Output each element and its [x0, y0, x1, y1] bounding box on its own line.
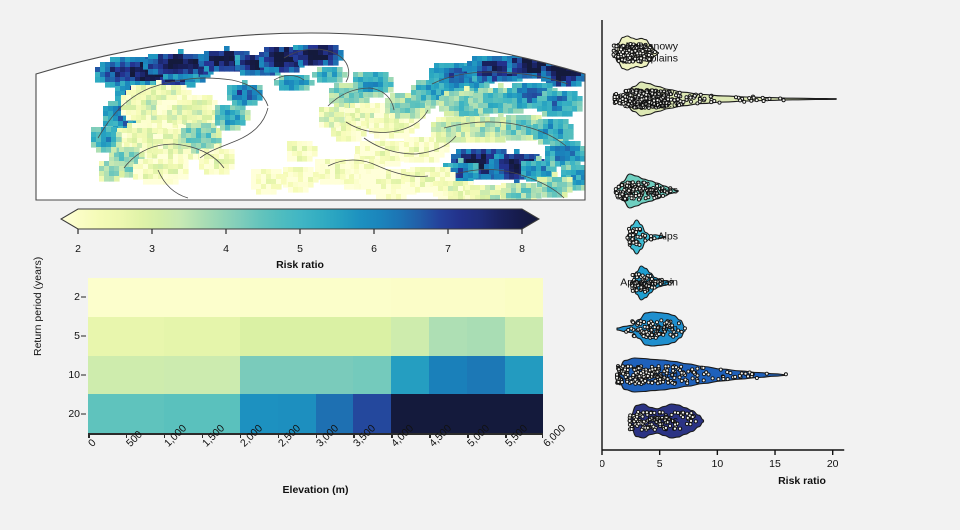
map-grid-cell	[410, 167, 416, 173]
map-grid-cell	[400, 108, 406, 114]
map-grid-cell	[162, 110, 168, 116]
map-grid-cell	[334, 93, 340, 99]
violin-x-tick-label: 5	[657, 458, 663, 470]
map-grid-cell	[410, 187, 416, 193]
map-grid-cell	[261, 169, 267, 175]
violin-point	[744, 372, 747, 375]
map-grid-cell	[353, 82, 359, 88]
map-grid-cell	[341, 131, 347, 137]
map-grid-cell	[148, 59, 154, 65]
map-grid-cell	[247, 95, 253, 101]
map-grid-cell	[381, 179, 387, 185]
map-grid-cell	[209, 56, 215, 62]
map-grid-cell	[419, 142, 425, 148]
map-grid-cell	[536, 166, 542, 172]
map-grid-cell	[476, 154, 482, 160]
violin-point	[703, 97, 706, 100]
map-grid-cell	[173, 174, 179, 180]
map-grid-cell	[320, 164, 326, 170]
heatmap-cell	[505, 317, 543, 356]
map-grid-cell	[511, 120, 517, 126]
map-grid-cell	[299, 80, 305, 86]
map-grid-cell	[127, 133, 133, 139]
map-grid-cell	[577, 106, 583, 112]
heatmap-x-tick-label: 0	[86, 437, 99, 450]
violin-point	[734, 375, 737, 378]
map-grid-cell	[542, 187, 548, 193]
map-grid-cell	[143, 59, 149, 65]
map-grid-cell	[303, 182, 309, 188]
map-grid-cell	[110, 67, 116, 73]
map-grid-cell	[459, 78, 465, 84]
heatmap-cell	[316, 317, 354, 356]
map-grid-cell	[131, 85, 137, 91]
map-grid-cell	[328, 60, 334, 66]
map-grid-cell	[419, 147, 425, 153]
map-grid-cell	[126, 110, 132, 116]
violin-point	[683, 327, 686, 330]
map-grid-cell	[173, 179, 179, 185]
map-grid-cell	[374, 133, 380, 139]
map-grid-cell	[568, 129, 574, 135]
map-grid-cell	[378, 87, 384, 93]
map-grid-cell	[307, 151, 313, 157]
map-grid-cell	[502, 66, 508, 72]
map-grid-cell	[329, 88, 335, 94]
map-grid-cell	[405, 98, 411, 104]
map-grid-cell	[572, 91, 578, 97]
map-grid-cell	[526, 188, 532, 194]
violin-point	[707, 373, 710, 376]
map-grid-cell	[438, 186, 444, 192]
map-grid-cell	[173, 69, 179, 75]
map-grid-cell	[567, 187, 573, 193]
map-grid-cell	[370, 151, 376, 157]
map-grid-cell	[157, 115, 163, 121]
map-grid-cell	[313, 172, 319, 178]
map-grid-cell	[478, 103, 484, 109]
map-grid-cell	[242, 90, 248, 96]
map-grid-cell	[199, 56, 205, 62]
map-grid-cell	[434, 83, 440, 89]
map-grid-cell	[379, 123, 385, 129]
map-grid-cell	[344, 98, 350, 104]
violin-point	[685, 96, 688, 99]
map-grid-cell	[354, 93, 360, 99]
map-grid-cell	[197, 95, 203, 101]
map-grid-cell	[148, 159, 154, 165]
map-grid-cell	[235, 110, 241, 116]
map-grid-cell	[168, 174, 174, 180]
map-grid-cell	[425, 182, 431, 188]
violin-panel: Non-snowy plainsSnow- dominatedRockiesAl…	[600, 20, 950, 510]
map-grid-cell	[250, 55, 256, 61]
map-grid-cell	[147, 153, 153, 159]
map-grid-cell	[182, 100, 188, 106]
map-grid-cell	[512, 76, 518, 82]
map-grid-cell	[565, 151, 571, 157]
map-grid-cell	[209, 164, 215, 170]
violin-point	[696, 367, 699, 370]
map-grid-cell	[529, 154, 535, 160]
map-grid-cell	[473, 168, 479, 174]
map-grid-cell	[120, 86, 126, 92]
map-grid-cell	[536, 161, 542, 167]
map-grid-cell	[547, 106, 553, 112]
map-grid-cell	[230, 125, 236, 131]
map-grid-cell	[167, 95, 173, 101]
map-grid-cell	[172, 120, 178, 126]
map-grid-cell	[158, 59, 164, 65]
map-grid-cell	[229, 66, 235, 72]
map-grid-cell	[141, 115, 147, 121]
map-grid-cell	[561, 71, 567, 77]
map-grid-cell	[235, 105, 241, 111]
map-grid-cell	[247, 100, 253, 106]
map-grid-cell	[197, 100, 203, 106]
map-grid-cell	[337, 72, 343, 78]
map-grid-cell	[173, 74, 179, 80]
map-grid-cell	[204, 66, 210, 72]
map-grid-cell	[552, 53, 558, 59]
map-grid-cell	[433, 191, 439, 197]
map-grid-cell	[162, 123, 168, 129]
map-grid-cell	[507, 63, 513, 69]
map-grid-cell	[550, 141, 556, 147]
map-grid-cell	[410, 108, 416, 114]
heatmap-cell	[164, 317, 202, 356]
map-grid-cell	[560, 146, 566, 152]
map-grid-cell	[166, 90, 172, 96]
map-grid-cell	[167, 110, 173, 116]
map-grid-cell	[353, 77, 359, 83]
map-grid-cell	[430, 167, 436, 173]
map-grid-cell	[113, 101, 119, 107]
map-grid-cell	[538, 124, 544, 130]
map-grid-cell	[168, 169, 174, 175]
violin-point	[717, 378, 720, 381]
map-grid-cell	[220, 105, 226, 111]
map-grid-cell	[424, 142, 430, 148]
map-grid-cell	[487, 56, 493, 62]
map-grid-cell	[563, 134, 569, 140]
map-grid-cell	[504, 174, 510, 180]
map-grid-cell	[469, 111, 475, 117]
map-grid-cell	[313, 55, 319, 61]
violin-point	[726, 371, 729, 374]
map-grid-cell	[115, 86, 121, 92]
map-grid-cell	[478, 88, 484, 94]
map-grid-cell	[287, 146, 293, 152]
map-grid-cell	[264, 47, 270, 53]
map-grid-cell	[482, 56, 488, 62]
map-grid-cell	[514, 149, 520, 155]
map-grid-cell	[475, 132, 481, 138]
map-grid-cell	[411, 85, 417, 91]
map-grid-cell	[229, 164, 235, 170]
map-grid-cell	[501, 193, 507, 199]
map-grid-cell	[411, 95, 417, 101]
map-grid-cell	[401, 194, 407, 200]
map-grid-cell	[281, 179, 287, 185]
map-grid-cell	[552, 96, 558, 102]
map-grid-cell	[483, 98, 489, 104]
map-grid-cell	[470, 132, 476, 138]
map-grid-cell	[245, 65, 251, 71]
map-grid-cell	[566, 61, 572, 67]
map-grid-cell	[178, 164, 184, 170]
map-grid-cell	[229, 51, 235, 57]
map-grid-cell	[374, 159, 380, 165]
map-grid-cell	[416, 85, 422, 91]
map-grid-cell	[339, 117, 345, 123]
map-grid-cell	[454, 78, 460, 84]
map-grid-cell	[519, 154, 525, 160]
map-grid-cell	[153, 149, 159, 155]
map-grid-cell	[440, 167, 446, 173]
map-grid-cell	[473, 173, 479, 179]
map-grid-cell	[464, 86, 470, 92]
map-grid-cell	[429, 137, 435, 143]
map-grid-cell	[207, 105, 213, 111]
map-grid-cell	[436, 127, 442, 133]
map-grid-cell	[537, 88, 543, 94]
map-grid-cell	[487, 76, 493, 82]
heatmap-cell	[316, 278, 354, 317]
map-grid-cell	[142, 128, 148, 134]
map-grid-cell	[511, 188, 517, 194]
map-grid-cell	[297, 141, 303, 147]
map-grid-cell	[219, 149, 225, 155]
map-grid-cell	[433, 186, 439, 192]
map-grid-cell	[516, 115, 522, 121]
map-grid-cell	[470, 127, 476, 133]
map-grid-cell	[414, 137, 420, 143]
map-grid-cell	[119, 147, 125, 153]
map-grid-cell	[385, 156, 391, 162]
map-grid-cell	[178, 49, 184, 55]
map-grid-cell	[250, 60, 256, 66]
map-grid-cell	[448, 191, 454, 197]
map-grid-cell	[207, 110, 213, 116]
map-grid-cell	[557, 182, 563, 188]
map-grid-cell	[313, 60, 319, 66]
map-grid-cell	[456, 117, 462, 123]
map-grid-cell	[113, 111, 119, 117]
map-grid-cell	[266, 184, 272, 190]
map-grid-cell	[183, 149, 189, 155]
map-grid-cell	[224, 51, 230, 57]
map-grid-cell	[371, 189, 377, 195]
map-grid-cell	[541, 66, 547, 72]
map-grid-cell	[365, 103, 371, 109]
map-grid-cell	[561, 61, 567, 67]
map-grid-cell	[537, 53, 543, 59]
map-grid-cell	[178, 64, 184, 70]
map-grid-cell	[449, 106, 455, 112]
map-grid-cell	[410, 113, 416, 119]
map-grid-cell	[331, 131, 337, 137]
map-grid-cell	[516, 188, 522, 194]
map-grid-cell	[433, 181, 439, 187]
map-grid-cell	[240, 105, 246, 111]
map-grid-cell	[115, 77, 121, 83]
map-grid-cell	[186, 123, 192, 129]
map-grid-cell	[492, 76, 498, 82]
map-grid-cell	[105, 67, 111, 73]
map-grid-cell	[240, 120, 246, 126]
map-grid-cell	[333, 55, 339, 61]
map-grid-cell	[181, 85, 187, 91]
map-grid-cell	[429, 68, 435, 74]
map-grid-cell	[571, 81, 577, 87]
map-grid-cell	[383, 77, 389, 83]
map-grid-cell	[274, 57, 280, 63]
map-grid-cell	[162, 100, 168, 106]
map-grid-cell	[304, 75, 310, 81]
map-grid-cell	[211, 128, 217, 134]
map-grid-cell	[163, 174, 169, 180]
violin-point	[713, 99, 716, 102]
colorbar-tick-label: 8	[519, 243, 525, 255]
map-grid-cell	[498, 83, 504, 89]
map-grid-cell	[586, 175, 592, 181]
map-grid-cell	[115, 96, 121, 102]
map-grid-cell	[190, 82, 196, 88]
map-grid-cell	[576, 76, 582, 82]
map-grid-cell	[261, 179, 267, 185]
map-grid-cell	[431, 122, 437, 128]
map-grid-cell	[182, 105, 188, 111]
map-grid-cell	[298, 182, 304, 188]
map-grid-cell	[542, 106, 548, 112]
map-grid-cell	[358, 82, 364, 88]
map-grid-cell	[410, 177, 416, 183]
map-grid-cell	[436, 117, 442, 123]
map-grid-cell	[143, 164, 149, 170]
heatmap-cell	[316, 356, 354, 395]
map-grid-cell	[178, 69, 184, 75]
map-grid-cell	[235, 60, 241, 66]
map-grid-cell	[119, 152, 125, 158]
map-grid-cell	[575, 156, 581, 162]
map-grid-cell	[411, 90, 417, 96]
map-grid-cell	[562, 96, 568, 102]
map-grid-cell	[365, 146, 371, 152]
map-grid-cell	[261, 189, 267, 195]
map-grid-cell	[421, 85, 427, 91]
map-grid-cell	[470, 190, 476, 196]
map-grid-cell	[380, 136, 386, 142]
violin-point	[702, 366, 705, 369]
map-grid-cell	[551, 76, 557, 82]
map-grid-cell	[188, 54, 194, 60]
map-grid-cell	[586, 66, 592, 72]
map-grid-cell	[551, 66, 557, 72]
map-grid-cell	[448, 181, 454, 187]
map-grid-cell	[555, 141, 561, 147]
map-grid-cell	[178, 159, 184, 165]
violin-point	[689, 423, 692, 426]
map-grid-cell	[366, 189, 372, 195]
world-map	[28, 18, 593, 208]
heatmap-cell	[278, 317, 316, 356]
map-grid-cell	[320, 159, 326, 165]
map-grid-cell	[498, 93, 504, 99]
map-grid-cell	[141, 110, 147, 116]
map-grid-cell	[409, 118, 415, 124]
map-grid-cell	[126, 105, 132, 111]
map-grid-cell	[329, 112, 335, 118]
map-grid-cell	[483, 93, 489, 99]
heatmap-cell	[164, 278, 202, 317]
map-grid-cell	[293, 167, 299, 173]
map-grid-cell	[308, 60, 314, 66]
map-grid-cell	[118, 116, 124, 122]
map-grid-cell	[196, 128, 202, 134]
map-grid-cell	[547, 187, 553, 193]
map-grid-cell	[512, 93, 518, 99]
violin-point	[782, 99, 785, 102]
map-grid-cell	[259, 62, 265, 68]
map-grid-cell	[443, 191, 449, 197]
map-grid-cell	[187, 115, 193, 121]
map-grid-cell	[199, 164, 205, 170]
map-grid-cell	[261, 184, 267, 190]
map-grid-cell	[216, 138, 222, 144]
map-grid-cell	[420, 108, 426, 114]
map-grid-cell	[173, 54, 179, 60]
map-grid-cell	[503, 103, 509, 109]
map-grid-cell	[183, 74, 189, 80]
map-grid-cell	[219, 61, 225, 67]
map-grid-cell	[542, 53, 548, 59]
map-grid-cell	[517, 98, 523, 104]
map-grid-cell	[346, 116, 352, 122]
map-grid-cell	[366, 184, 372, 190]
map-grid-cell	[168, 164, 174, 170]
map-grid-cell	[135, 67, 141, 73]
map-grid-cell	[224, 164, 230, 170]
map-grid-cell	[531, 198, 537, 204]
violin-point	[743, 100, 746, 103]
map-grid-cell	[354, 98, 360, 104]
map-grid-cell	[527, 93, 533, 99]
map-grid-cell	[480, 190, 486, 196]
map-grid-cell	[541, 166, 547, 172]
map-grid-cell	[101, 147, 107, 153]
map-grid-cell	[204, 51, 210, 57]
map-grid-cell	[404, 157, 410, 163]
map-grid-cell	[487, 66, 493, 72]
violin-point	[698, 100, 701, 103]
map-grid-cell	[163, 134, 169, 140]
map-grid-cell	[324, 107, 330, 113]
map-grid-cell	[572, 106, 578, 112]
map-grid-cell	[466, 154, 472, 160]
map-grid-cell	[334, 122, 340, 128]
map-grid-cell	[131, 90, 137, 96]
heatmap-cell	[353, 317, 391, 356]
map-grid-cell	[359, 169, 365, 175]
map-grid-cell	[511, 125, 517, 131]
map-grid-cell	[163, 69, 169, 75]
map-grid-cell	[581, 61, 587, 67]
map-grid-cell	[421, 80, 427, 86]
map-grid-cell	[130, 72, 136, 78]
map-grid-cell	[443, 196, 449, 202]
map-grid-cell	[187, 100, 193, 106]
